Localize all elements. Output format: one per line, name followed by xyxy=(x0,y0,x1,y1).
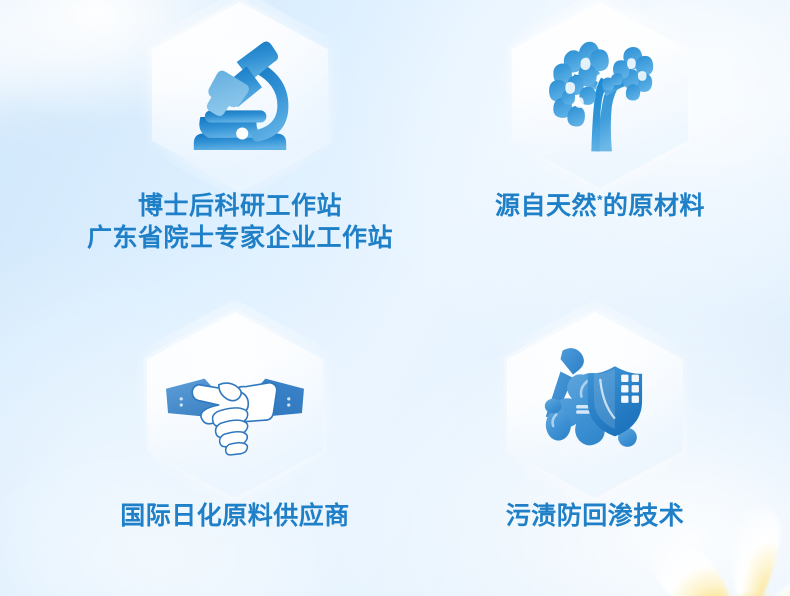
feature-caption-postdoc-station: 博士后科研工作站 广东省院士专家企业工作站 xyxy=(60,190,420,254)
feature-card-international-supplier[interactable]: 国际日化原料供应商 xyxy=(55,312,415,498)
feature-card-natural-materials[interactable]: 源自天然*的原材料 xyxy=(455,2,745,188)
stain-shield-icon: 污渍防回渗分离因子 xyxy=(520,330,670,480)
caption-line-1: 源自天然*的原材料 xyxy=(455,190,745,222)
caption-line-1: 污渍防回渗技术 xyxy=(450,500,740,532)
feature-card-anti-redeposition[interactable]: 污渍防回渗分离因子 xyxy=(450,312,740,498)
feature-caption-anti-redeposition: 污渍防回渗技术 xyxy=(450,500,740,532)
hex-frame-natural-materials xyxy=(455,2,745,188)
hex-frame-anti-redeposition: 污渍防回渗分离因子 xyxy=(450,312,740,498)
feature-caption-natural-materials: 源自天然*的原材料 xyxy=(455,190,745,222)
caption-line-1: 国际日化原料供应商 xyxy=(55,500,415,532)
hex-frame-international-supplier xyxy=(55,312,415,498)
caption-line-1: 博士后科研工作站 xyxy=(60,190,420,222)
handshake-icon xyxy=(160,330,310,480)
caption-line-2: 广东省院士专家企业工作站 xyxy=(60,222,420,254)
caption-text-tail: 的原材料 xyxy=(603,192,705,220)
feature-caption-international-supplier: 国际日化原料供应商 xyxy=(55,500,415,532)
promo-banner: 博士后科研工作站 广东省院士专家企业工作站 xyxy=(0,0,790,596)
tree-icon xyxy=(525,20,675,170)
feature-card-postdoc-station[interactable]: 博士后科研工作站 广东省院士专家企业工作站 xyxy=(60,2,420,188)
hex-frame-postdoc-station xyxy=(60,2,420,188)
microscope-icon xyxy=(165,20,315,170)
caption-text-main: 源自天然 xyxy=(495,192,597,220)
